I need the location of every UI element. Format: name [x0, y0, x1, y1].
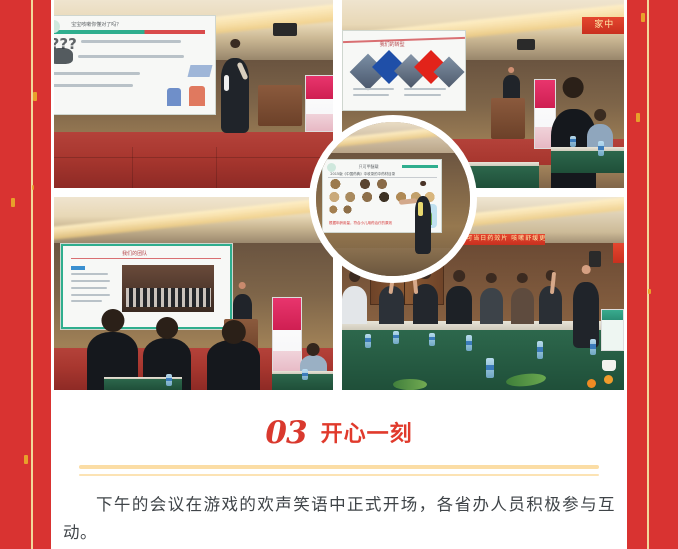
divider-line-thin: [79, 474, 599, 476]
wall-sign-top-right: 家中: [582, 17, 624, 34]
section-body-text: 下午的会议在游戏的欢声笑语中正式开场，各省办人员积极参与互动。: [63, 491, 615, 547]
wall-sign-edge: [613, 243, 624, 262]
overlay-slide-footer: 根据年龄用量，符合小儿用药治疗的原则: [329, 221, 392, 226]
left-gold-rule: [31, 0, 33, 549]
section-title: 开心一刻: [321, 422, 413, 447]
photo-circle-overlay[interactable]: 只可甲醚载 2015版《中国药典》中收录的中药材目录 根据年龄用量，符合小儿用药…: [309, 115, 477, 283]
gold-ornament-icon: [24, 455, 28, 464]
divider-line-thick: [79, 465, 599, 469]
gold-ornament-icon: [636, 113, 640, 122]
photo-bottom-left[interactable]: 我们的团队: [54, 197, 333, 390]
gold-ornament-icon: [648, 289, 651, 294]
gold-ornament-icon: [33, 92, 37, 101]
wall-sign-bottom-right: 买了就可当日药效片 咳嗽舒缓更舒适: [460, 234, 545, 246]
overlay-slide-title: 只可甲醚载: [359, 164, 379, 170]
gold-ornament-icon: [11, 198, 15, 207]
gold-ornament-icon: [641, 13, 645, 22]
section-heading: 03开心一刻: [51, 415, 627, 451]
photo-collage: 宝宝咳嗽你懂对了吗？ ???: [54, 0, 624, 390]
content-card: 宝宝咳嗽你懂对了吗？ ???: [51, 0, 627, 549]
right-gold-rule: [647, 0, 649, 549]
section-number: 03: [265, 415, 306, 451]
gold-ornament-icon: [32, 185, 34, 190]
gold-divider: [79, 465, 599, 476]
photo-top-left[interactable]: 宝宝咳嗽你懂对了吗？ ???: [54, 0, 333, 188]
page-background: 宝宝咳嗽你懂对了吗？ ???: [0, 0, 678, 549]
